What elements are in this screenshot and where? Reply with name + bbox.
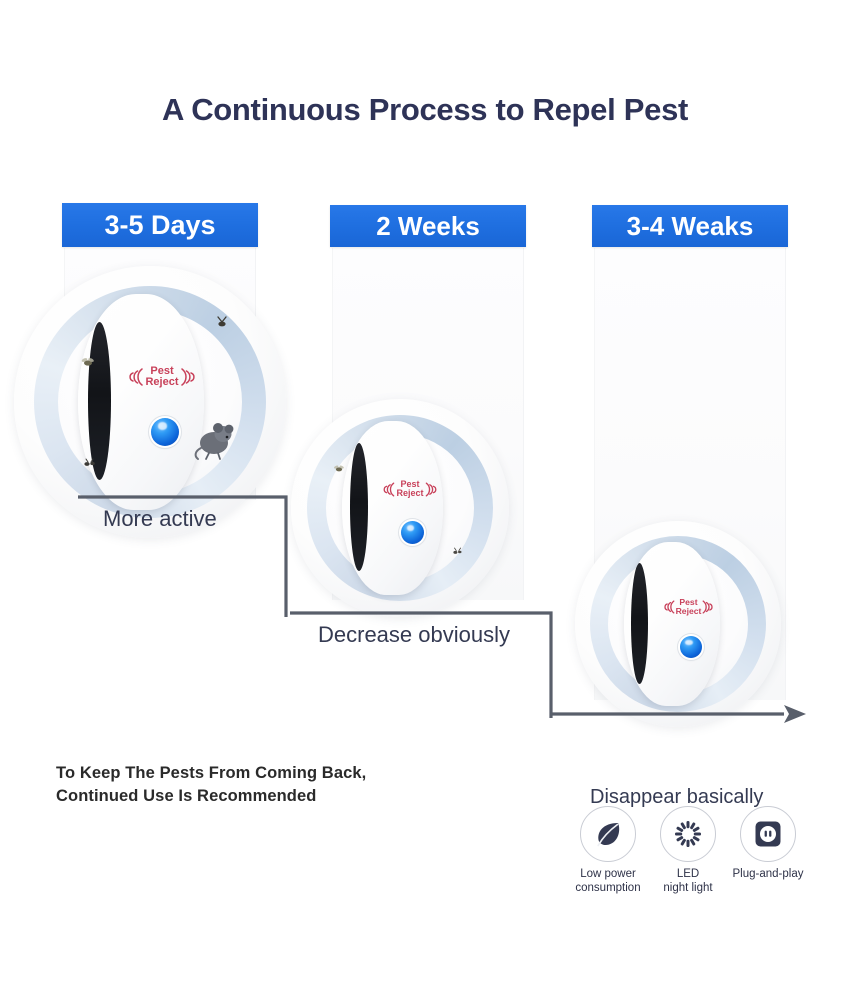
- feature-label-2: LED night light: [652, 867, 724, 895]
- stage-caption-1: More active: [103, 506, 217, 532]
- stage-badge-2: 2 Weeks: [330, 205, 526, 247]
- device-led-button-3: [680, 636, 702, 658]
- feature-plug-and-play: Plug-and-play: [732, 806, 804, 895]
- feature-circle-3: [740, 806, 796, 862]
- infographic-canvas: A Continuous Process to Repel Pest 3-5 D…: [0, 0, 850, 995]
- flow-arrowhead-icon: [784, 705, 806, 723]
- leaf-icon: [593, 819, 623, 849]
- device-vent-slot-1: [88, 322, 111, 480]
- device-body-2: [342, 421, 443, 595]
- bottom-note: To Keep The Pests From Coming Back, Cont…: [56, 762, 366, 809]
- stage-badge-1: 3-5 Days: [62, 203, 258, 247]
- stage-caption-2: Decrease obviously: [318, 622, 510, 648]
- feature-label-3: Plug-and-play: [732, 867, 804, 881]
- bottom-note-line-1: To Keep The Pests From Coming Back,: [56, 762, 366, 785]
- device-led-button-2: [401, 521, 424, 544]
- device-led-button-1: [151, 418, 179, 446]
- repeller-device-1: Pest Reject: [14, 266, 286, 538]
- feature-circle-2: [660, 806, 716, 862]
- device-vent-slot-2: [350, 443, 368, 571]
- feature-list: Low power consumption: [572, 806, 804, 895]
- feature-circle-1: [580, 806, 636, 862]
- device-body-3: [624, 542, 720, 706]
- feature-low-power: Low power consumption: [572, 806, 644, 895]
- bottom-note-line-2: Continued Use Is Recommended: [56, 785, 366, 808]
- page-title: A Continuous Process to Repel Pest: [0, 92, 850, 128]
- repeller-device-2: Pest Reject: [291, 399, 509, 617]
- device-body-1: [78, 294, 204, 510]
- feature-label-1: Low power consumption: [572, 867, 644, 895]
- repeller-device-3: Pest Reject: [575, 521, 781, 727]
- socket-icon: [753, 819, 783, 849]
- feature-led-night-light: LED night light: [652, 806, 724, 895]
- shine-icon: [673, 819, 703, 849]
- stage-badge-3: 3-4 Weaks: [592, 205, 788, 247]
- device-vent-slot-3: [631, 563, 648, 684]
